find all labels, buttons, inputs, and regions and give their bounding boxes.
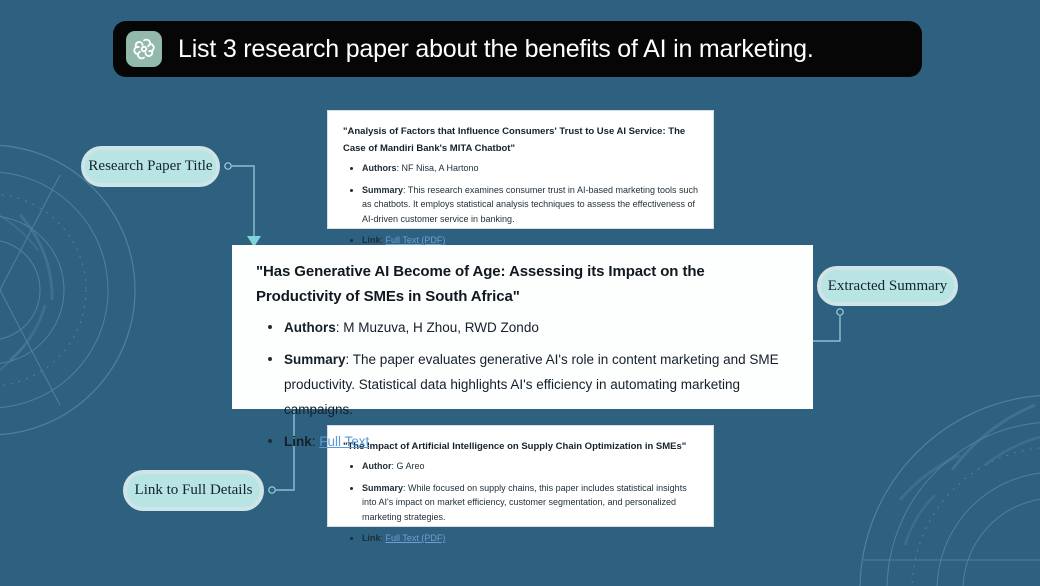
connector-dot-title [225, 163, 231, 169]
list-item: Authors: NF Nisa, A Hartono [343, 161, 698, 176]
full-text-link[interactable]: Full Text (PDF) [386, 533, 446, 543]
field-value: While focused on supply chains, this pap… [362, 483, 687, 522]
annotation-label: Extracted Summary [828, 278, 948, 295]
list-item: Summary: While focused on supply chains,… [343, 481, 698, 525]
field-value: NF Nisa, A Hartono [402, 163, 479, 173]
result-detail-list: Authors: M Muzuva, H Zhou, RWD Zondo Sum… [256, 315, 793, 454]
result-title: "Has Generative AI Become of Age: Assess… [256, 259, 793, 309]
openai-logo-icon [126, 31, 162, 67]
list-item: Authors: M Muzuva, H Zhou, RWD Zondo [256, 315, 793, 340]
field-label: Link [362, 533, 381, 543]
field-label: Summary [362, 185, 403, 195]
result-title: "Analysis of Factors that Influence Cons… [343, 123, 698, 157]
full-text-link[interactable]: Full Text [319, 434, 369, 449]
list-item: Link: Full Text [256, 429, 793, 454]
field-label: Authors [362, 163, 397, 173]
list-item: Link: Full Text (PDF) [343, 531, 698, 546]
list-item: Summary: This research examines consumer… [343, 183, 698, 227]
result-card-main: "Has Generative AI Become of Age: Assess… [228, 245, 813, 409]
annotation-research-paper-title[interactable]: Research Paper Title [81, 146, 220, 187]
deco-circles-right [860, 395, 1040, 586]
list-item: Author: G Areo [343, 459, 698, 474]
deco-circles-left [0, 145, 135, 435]
field-label: Author [362, 461, 392, 471]
prompt-bar: List 3 research paper about the benefits… [113, 21, 922, 77]
field-label: Summary [362, 483, 403, 493]
annotation-link-to-full-details[interactable]: Link to Full Details [123, 470, 264, 511]
connector-dot-summary [837, 309, 843, 315]
result-detail-list: Authors: NF Nisa, A Hartono Summary: Thi… [343, 161, 698, 248]
field-value: The paper evaluates generative AI's role… [284, 352, 779, 417]
full-text-link[interactable]: Full Text (PDF) [386, 235, 446, 245]
list-item: Summary: The paper evaluates generative … [256, 347, 793, 422]
field-label: Link [362, 235, 381, 245]
result-detail-list: Author: G Areo Summary: While focused on… [343, 459, 698, 546]
field-label: Summary [284, 352, 346, 367]
annotation-label: Research Paper Title [88, 158, 212, 175]
prompt-text: List 3 research paper about the benefits… [178, 35, 814, 64]
field-label: Authors [284, 320, 336, 335]
annotation-label: Link to Full Details [135, 482, 253, 499]
field-value: M Muzuva, H Zhou, RWD Zondo [343, 320, 539, 335]
connector-dot-link [269, 487, 275, 493]
annotation-extracted-summary[interactable]: Extracted Summary [817, 266, 958, 306]
result-card-top: "Analysis of Factors that Influence Cons… [327, 110, 714, 229]
field-sep: : [346, 352, 353, 367]
field-value: G Areo [397, 461, 425, 471]
field-label: Link [284, 434, 312, 449]
field-value: This research examines consumer trust in… [362, 185, 698, 224]
